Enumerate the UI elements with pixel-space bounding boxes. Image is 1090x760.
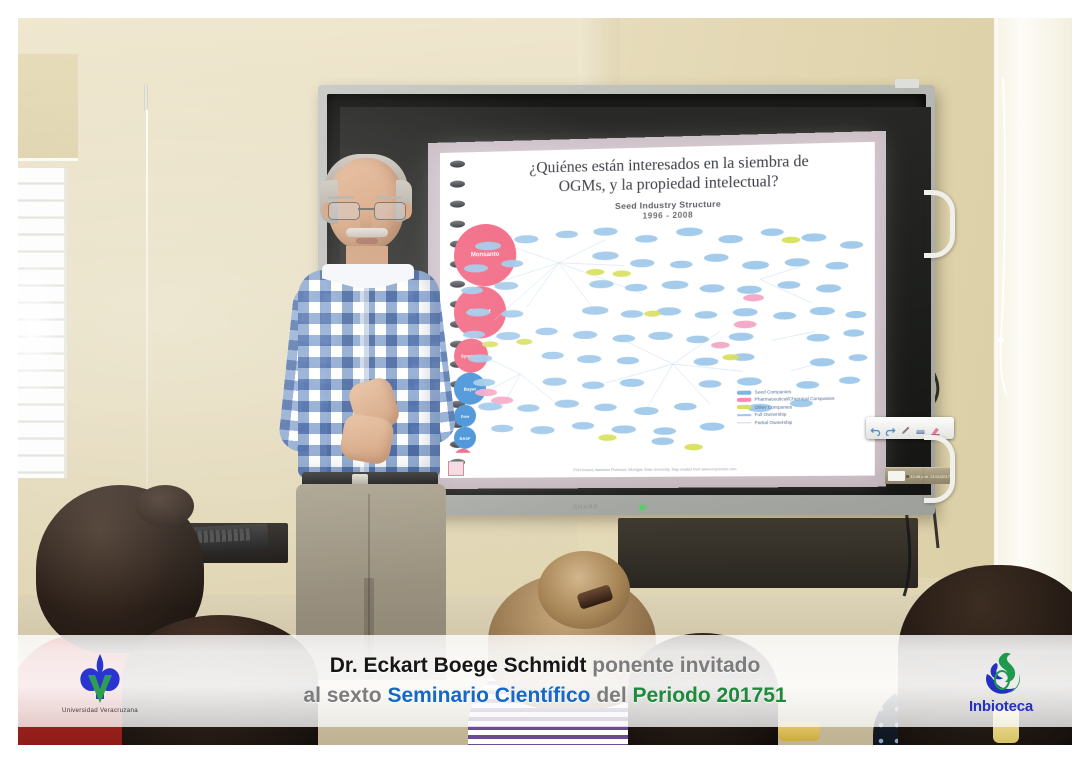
conference-photo: ¿Quiénes están interesados en la siembra… [18, 18, 1072, 745]
event-name: Seminario Científico [387, 684, 590, 707]
eraser-icon[interactable] [915, 423, 926, 434]
slide-footnote: Phil Howard, Assistant Professor, Michig… [480, 467, 833, 474]
blind-cord-right [993, 78, 1017, 398]
seed-industry-network-diagram: Monsanto DuPont Syngenta Bayer Dow BASF … [454, 216, 868, 453]
speaker-name: Dr. Eckart Boege Schmidt [330, 654, 587, 677]
glasses-bridge [358, 208, 374, 210]
presentation-table [618, 518, 918, 588]
highlighter-icon[interactable] [930, 423, 941, 434]
diagram-legend: Seed Companies Pharmaceutical/Chemical C… [737, 387, 860, 426]
presenter-hand-lower [338, 412, 395, 466]
event-mid: del [590, 684, 632, 707]
inbioteca-logo: Inbioteca [946, 647, 1056, 719]
audience-hair-bun-center [538, 551, 630, 629]
board-brand-badge [895, 79, 919, 88]
presenter-mustache [346, 228, 388, 237]
photo-page: ¿Quiénes están interesados en la siembra… [0, 0, 1090, 760]
blind-cord [146, 110, 148, 490]
banner-line-2: al sexto Seminario Científico del Period… [303, 681, 786, 711]
pen-icon[interactable] [900, 423, 911, 434]
presenter-brow-right [376, 196, 402, 199]
presenter [268, 158, 448, 678]
speaker-role: ponente invitado [586, 654, 760, 677]
event-prefix: al sexto [303, 684, 387, 707]
legend-item-partial-ownership: Partial Ownership [737, 418, 860, 427]
slide-title: ¿Quiénes están interesados en la siembra… [474, 150, 866, 198]
slide-corner-stamp [448, 461, 464, 476]
board-brand-label: SHARP [573, 505, 599, 511]
board-power-led [640, 505, 645, 510]
inbioteca-flame-icon [973, 652, 1029, 700]
start-button[interactable] [888, 471, 905, 481]
event-period: Periodo 201751 [633, 684, 787, 707]
blind-rod [144, 84, 148, 112]
presenter-mouth [356, 238, 378, 244]
board-handle-bottom[interactable] [924, 435, 955, 503]
presentation-slide: ¿Quiénes están interesados en la siembra… [440, 142, 875, 478]
board-handle-top[interactable] [924, 190, 955, 258]
window-valance [18, 54, 78, 161]
banner-line-1: Dr. Eckart Boege Schmidt ponente invitad… [303, 651, 786, 681]
presenter-brow-left [328, 196, 354, 199]
caption-banner: Universidad Veracruzana Dr. Eckart Boege… [18, 635, 1072, 727]
banner-text-block: Dr. Eckart Boege Schmidt ponente invitad… [18, 635, 1072, 727]
audience-hair-knot-left [136, 485, 194, 527]
window-daylight-glow [18, 248, 60, 418]
glasses-lens-right [374, 202, 406, 220]
redo-icon[interactable] [885, 423, 896, 434]
tray-icon [906, 475, 909, 478]
inbioteca-logo-caption: Inbioteca [969, 698, 1033, 715]
glasses-lens-left [328, 202, 360, 220]
undo-icon[interactable] [870, 423, 881, 434]
